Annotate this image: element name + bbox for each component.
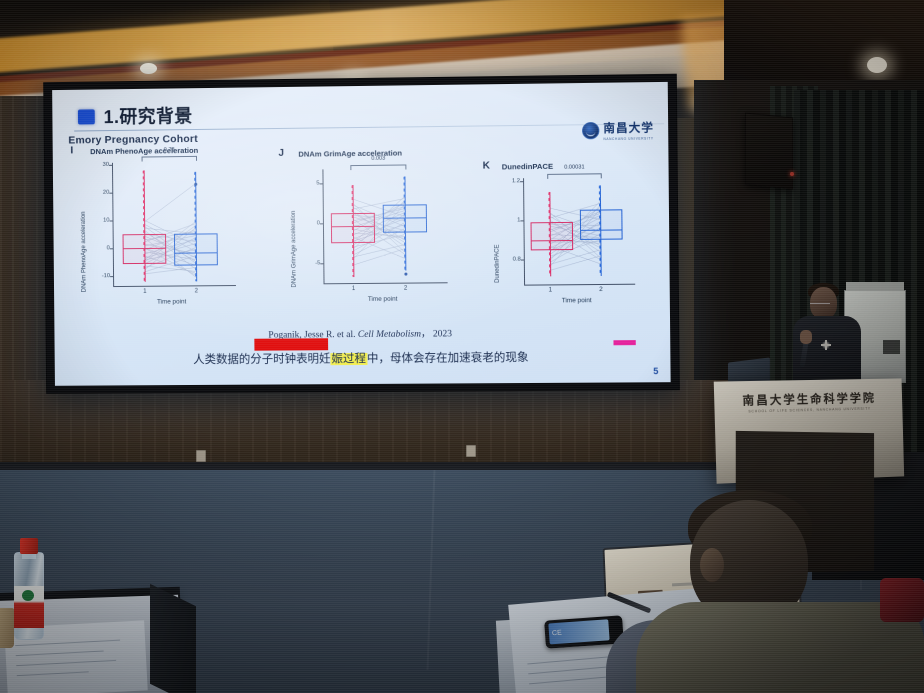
downlight-1	[140, 63, 157, 74]
panel-K-plot: 1.2 1 0.8	[523, 177, 629, 285]
panel-I-box-2	[174, 233, 218, 265]
panel-K-ytick-12: 1.2	[512, 178, 520, 184]
water-bottle	[14, 538, 44, 640]
panel-J-outlier	[404, 273, 407, 276]
redaction-bar	[254, 338, 328, 350]
panel-I-plot: 30 20 10 0 -10	[112, 161, 230, 286]
figure-panels: I DNAm PhenoAge acceleration DNAm PhenoA…	[53, 138, 670, 326]
downlight-5	[867, 57, 887, 73]
slide-title-row: 1.研究背景	[78, 102, 193, 129]
panel-K: K DunedinPACE DunedinPACE 1.2 1 0.8	[483, 159, 656, 321]
whiteboard-device	[883, 340, 900, 354]
panel-J-plot: 5 0 -5	[322, 168, 441, 283]
panel-K-letter: K	[483, 161, 490, 172]
podium-nameplate-cn: 南昌大学生命科学学院	[742, 389, 876, 408]
panel-K-box-2	[580, 209, 623, 240]
citation-year: 2023	[433, 329, 452, 339]
magenta-marker	[613, 340, 635, 345]
panel-I-xlabel: Time point	[157, 298, 186, 305]
panel-J-letter: J	[278, 148, 284, 159]
caption-part-2: 中，母体会存在加速衰老的现象	[367, 352, 529, 365]
bottle-label-emblem-icon	[22, 590, 34, 601]
panel-I-significance-bar	[142, 156, 197, 158]
wall-outlet-1[interactable]	[196, 450, 206, 462]
panel-K-ytick-08: 0.8	[513, 257, 521, 263]
panel-J-title: DNAm GrimAge acceleration	[298, 148, 402, 158]
panel-J-significance-bar	[350, 164, 406, 166]
panel-J-xtick-1: 1	[352, 286, 355, 292]
panel-J-pvalue: 0.003	[371, 156, 385, 162]
projection-screen[interactable]: 1.研究背景 Emory Pregnancy Cohort 南昌大学 NANCH…	[43, 74, 680, 394]
slide-title: 1.研究背景	[104, 102, 193, 129]
panel-K-x-axis	[524, 284, 635, 286]
lecture-hall-photo: 1.研究背景 Emory Pregnancy Cohort 南昌大学 NANCH…	[0, 0, 924, 693]
wall-speaker	[745, 112, 793, 189]
panel-K-pvalue: 0.00031	[564, 164, 584, 170]
panel-J: J DNAm GrimAge acceleration DNAm GrimAge…	[278, 146, 465, 323]
title-bullet-square-icon	[78, 109, 95, 124]
speaker-glasses	[810, 299, 830, 304]
paper-cup	[0, 608, 14, 648]
panel-J-box-1	[331, 213, 375, 243]
university-name: 南昌大学	[603, 122, 654, 135]
whiteboard-frame-top	[846, 282, 904, 291]
panel-I-outlier	[194, 183, 197, 186]
panel-I-connector-lines	[112, 161, 230, 286]
panel-K-ylabel: DunedinPACE	[494, 244, 500, 282]
slide-page-number: 5	[653, 366, 658, 376]
panel-J-x-axis	[324, 282, 448, 284]
panel-J-ylabel: DNAm GrimAge acceleration	[291, 211, 298, 288]
panel-K-y-axis	[523, 178, 525, 284]
panel-J-y-axis	[322, 169, 324, 283]
panel-K-xlabel: Time point	[562, 297, 592, 304]
presentation-slide: 1.研究背景 Emory Pregnancy Cohort 南昌大学 NANCH…	[52, 82, 670, 386]
panel-I-x-axis	[113, 285, 236, 287]
panel-I-points-1	[142, 170, 146, 281]
panel-K-xtick-2: 2	[599, 287, 602, 293]
panel-I-y-axis	[112, 163, 114, 286]
speaker-shirt-emblem	[821, 340, 831, 350]
panel-K-box-1	[531, 222, 574, 251]
panel-I: I DNAm PhenoAge acceleration DNAm PhenoA…	[70, 143, 255, 319]
wall-outlet-2[interactable]	[466, 445, 476, 457]
citation-journal: Cell Metabolism	[358, 330, 421, 340]
panel-J-xtick-2: 2	[404, 286, 407, 292]
red-bag	[880, 578, 924, 622]
panel-J-xlabel: Time point	[368, 296, 398, 303]
panel-I-pvalue: 0.78	[164, 147, 175, 153]
panel-I-xtick-1: 1	[143, 289, 146, 295]
caption-part-1: 人类数据的分子时钟表明妊	[193, 353, 330, 366]
panel-K-xtick-1: 1	[549, 287, 552, 293]
panel-I-xtick-2: 2	[195, 288, 198, 294]
panel-I-ylabel: DNAm PhenoAge acceleration	[81, 211, 88, 292]
panel-K-title: DunedinPACE	[502, 162, 553, 172]
slide-caption: 人类数据的分子时钟表明妊娠过程中，母体会存在加速衰老的现象	[193, 349, 528, 367]
speaker-hand	[800, 330, 812, 344]
phone-screen[interactable]: CE	[548, 619, 609, 644]
panel-K-significance-bar	[547, 173, 602, 175]
university-seal-icon	[582, 122, 599, 139]
panel-I-letter: I	[70, 145, 73, 156]
podium-nameplate: 南昌大学生命科学学院 SCHOOL OF LIFE SCIENCES, NANC…	[724, 384, 893, 418]
panel-I-ytick-neg10: -10	[102, 273, 110, 279]
panel-I-title: DNAm PhenoAge acceleration	[90, 146, 198, 156]
audience-member-ear	[700, 548, 724, 582]
bottle-cap	[20, 538, 38, 554]
speaker-led-icon	[790, 172, 794, 176]
caption-highlight: 娠过程	[330, 353, 367, 365]
